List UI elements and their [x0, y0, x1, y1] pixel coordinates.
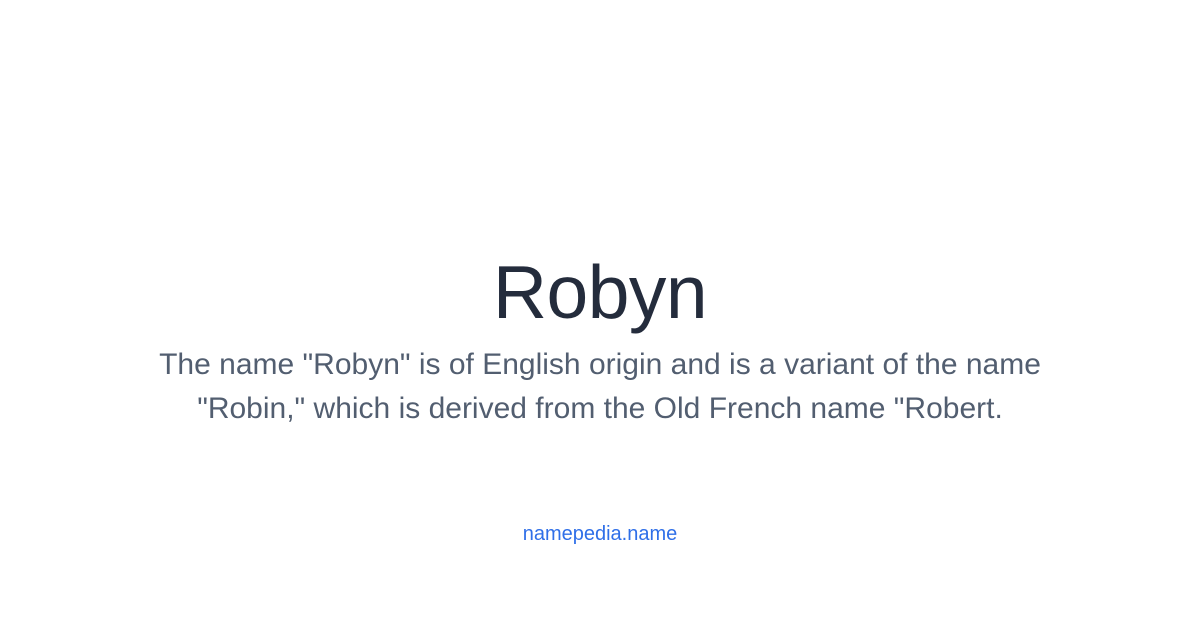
- site-link-row: namepedia.name: [0, 520, 1200, 548]
- name-description-text: The name "Robyn" is of English origin an…: [150, 343, 1050, 431]
- site-link[interactable]: namepedia.name: [523, 523, 678, 545]
- page-title: Robyn: [0, 247, 1200, 337]
- name-info-card: Robyn The name "Robyn" is of English ori…: [0, 0, 1200, 630]
